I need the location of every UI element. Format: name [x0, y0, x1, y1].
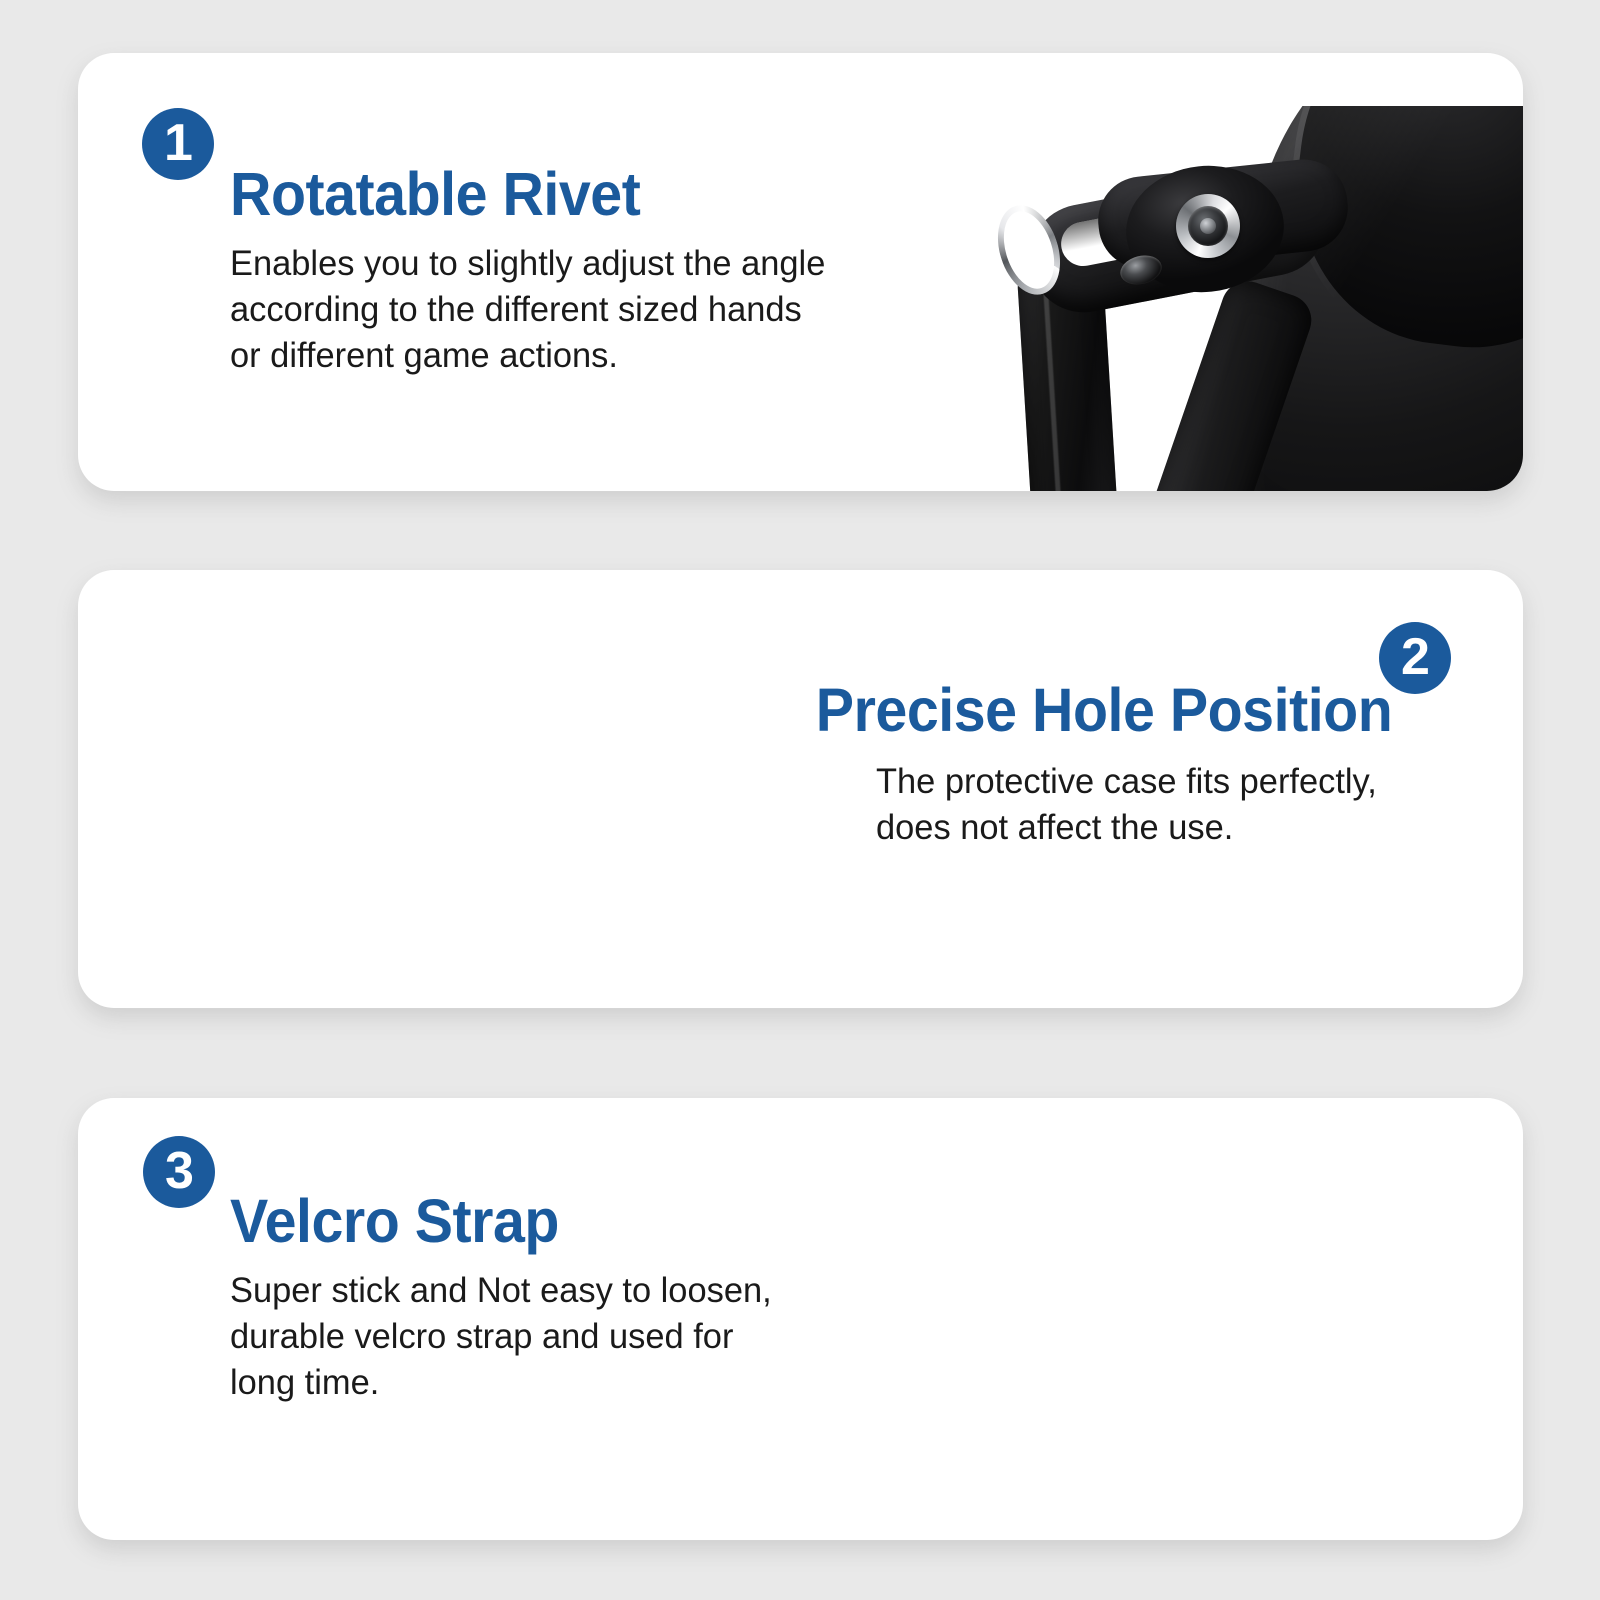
feature-title-3: Velcro Strap: [230, 1189, 888, 1253]
description-line: does not affect the use.: [876, 804, 1377, 850]
feature-badge-3: 3: [143, 1136, 215, 1208]
infographic-canvas: 1 Rotatable Rivet Enables you to slightl…: [0, 0, 1600, 1600]
description-line: Super stick and Not easy to loosen,: [230, 1267, 909, 1313]
description-line: The protective case fits perfectly,: [876, 758, 1377, 804]
feature-badge-1: 1: [142, 108, 214, 180]
feature-description-2: The protective case fits perfectly, does…: [876, 758, 1377, 850]
feature-title-2: Precise Hole Position: [816, 678, 1392, 742]
description-line: long time.: [230, 1359, 909, 1405]
feature-title-1: Rotatable Rivet: [230, 162, 926, 226]
feature-description-1: Enables you to slightly adjust the angle…: [230, 240, 948, 378]
feature-badge-2: 2: [1379, 622, 1451, 694]
description-line: according to the different sized hands: [230, 286, 948, 332]
feature-text-1: Rotatable Rivet Enables you to slightly …: [230, 162, 970, 378]
feature-text-2: Precise Hole Position The protective cas…: [700, 678, 1392, 850]
description-line: Enables you to slightly adjust the angle: [230, 240, 948, 286]
feature-text-3: Velcro Strap Super stick and Not easy to…: [230, 1189, 930, 1405]
feature-image-1: [948, 106, 1523, 491]
rivet-center-pin: [1200, 218, 1216, 234]
feature-description-3: Super stick and Not easy to loosen, dura…: [230, 1267, 909, 1405]
description-line: or different game actions.: [230, 332, 948, 378]
description-line: durable velcro strap and used for: [230, 1313, 909, 1359]
